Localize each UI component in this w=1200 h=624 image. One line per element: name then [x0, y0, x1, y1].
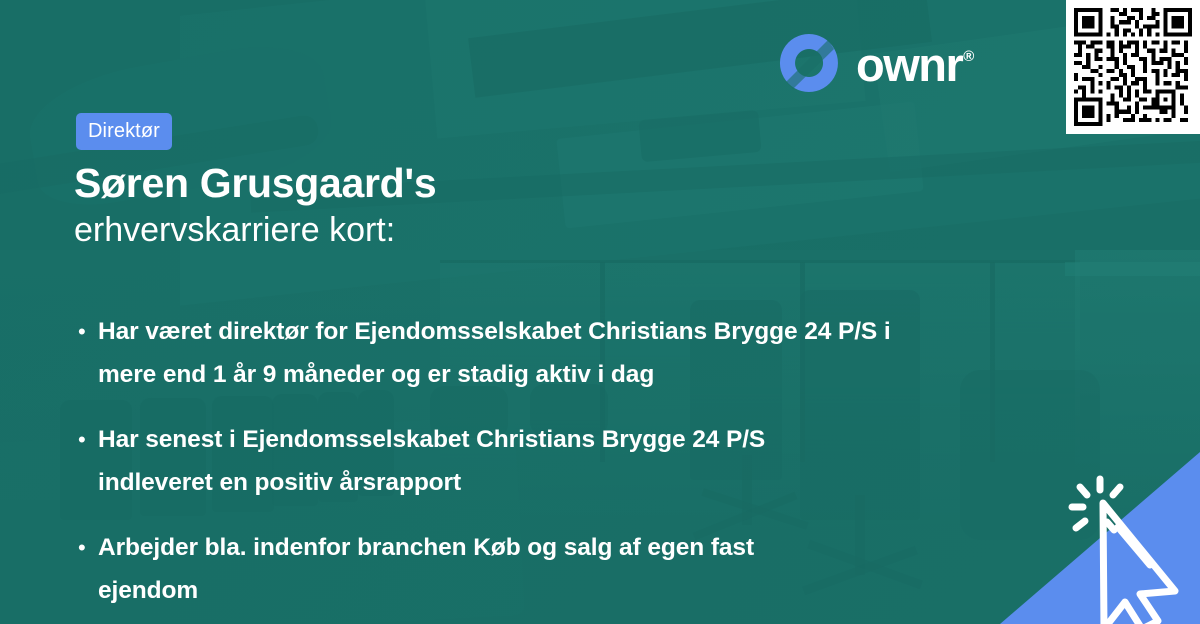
bullet-dot-icon: •: [78, 310, 98, 396]
role-badge: Direktør: [76, 113, 172, 150]
list-item-text: Har senest i Ejendomsselskabet Christian…: [98, 418, 818, 504]
bullet-dot-icon: •: [78, 526, 98, 612]
card-content: Direktør Søren Grusgaard's erhvervskarri…: [0, 0, 1200, 624]
career-summary-card: Direktør Søren Grusgaard's erhvervskarri…: [0, 0, 1200, 624]
page-subtitle: erhvervskarriere kort:: [74, 212, 395, 249]
list-item-text: Arbejder bla. indenfor branchen Køb og s…: [98, 526, 813, 612]
qr-code-icon: [1074, 8, 1192, 126]
list-item: • Arbejder bla. indenfor branchen Køb og…: [78, 526, 998, 612]
registered-trademark-icon: ®: [963, 48, 973, 65]
list-item-text: Har været direktør for Ejendomsselskabet…: [98, 310, 943, 396]
list-item: • Har senest i Ejendomsselskabet Christi…: [78, 418, 998, 504]
ownr-logo[interactable]: ownr®: [778, 32, 972, 94]
ownr-wordmark: ownr®: [856, 41, 972, 88]
ownr-circular-swoosh-icon: [778, 32, 840, 94]
bullet-dot-icon: •: [78, 418, 98, 504]
page-title: Søren Grusgaard's: [74, 161, 436, 205]
corner-accent: [1000, 452, 1200, 624]
ownr-wordmark-text: ownr: [856, 38, 962, 91]
list-item: • Har været direktør for Ejendomsselskab…: [78, 310, 998, 396]
career-bullet-list: • Har været direktør for Ejendomsselskab…: [78, 310, 998, 624]
qr-code-panel[interactable]: [1066, 0, 1200, 134]
